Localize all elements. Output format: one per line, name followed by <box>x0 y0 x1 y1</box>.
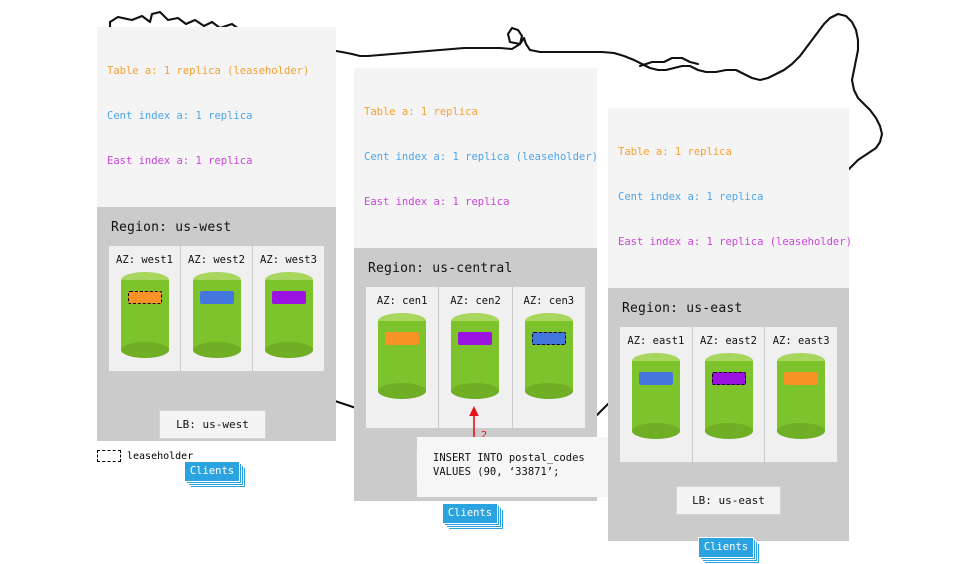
replica-bar-cen1-table-a <box>385 332 419 345</box>
node-cylinder-east1 <box>632 353 680 438</box>
diagram-canvas: Table a: 1 replica (leaseholder) Cent in… <box>0 0 960 540</box>
az-cell-west2: AZ: west2 <box>180 246 252 371</box>
node-cylinder-cen3 <box>525 313 573 398</box>
node-cylinder-east2 <box>705 353 753 438</box>
az-label-east3: AZ: east3 <box>765 335 837 347</box>
region-panel-us-east: Table a: 1 replica Cent index a: 1 repli… <box>608 108 849 541</box>
region-title-us-central: Region: us-central <box>354 248 597 287</box>
region-panel-us-west: Table a: 1 replica (leaseholder) Cent in… <box>97 27 336 441</box>
az-label-cen1: AZ: cen1 <box>366 295 438 307</box>
node-cylinder-west2 <box>193 272 241 357</box>
clients-label-us-east: Clients <box>698 537 754 558</box>
az-label-cen3: AZ: cen3 <box>513 295 585 307</box>
az-label-west2: AZ: west2 <box>181 254 252 266</box>
az-cell-east3: AZ: east3 <box>764 327 837 462</box>
az-label-east1: AZ: east1 <box>620 335 692 347</box>
clients-stack-us-east[interactable]: Clients <box>698 537 760 561</box>
az-cell-east1: AZ: east1 <box>620 327 692 462</box>
az-cell-cen1: AZ: cen1 <box>366 287 438 428</box>
header-line-cent-index: Cent index a: 1 replica <box>618 190 839 205</box>
header-line-east-index: East index a: 1 replica (leaseholder) <box>618 235 839 250</box>
sql-statement-box: INSERT INTO postal_codes VALUES (90, ‘33… <box>417 437 629 497</box>
node-cylinder-cen1 <box>378 313 426 398</box>
legend-label: leaseholder <box>127 451 193 462</box>
header-line-cent-index: Cent index a: 1 replica (leaseholder) <box>364 150 587 165</box>
header-line-cent-index: Cent index a: 1 replica <box>107 109 326 124</box>
az-label-east2: AZ: east2 <box>693 335 765 347</box>
az-label-west1: AZ: west1 <box>109 254 180 266</box>
legend-leaseholder: leaseholder <box>97 450 193 462</box>
header-line-table-a: Table a: 1 replica (leaseholder) <box>107 64 326 79</box>
clients-label-us-west: Clients <box>184 461 240 482</box>
az-label-cen2: AZ: cen2 <box>439 295 511 307</box>
replica-bar-cen3-cent-index <box>532 332 566 345</box>
replica-bar-west1-table-a <box>128 291 162 304</box>
replica-bar-west2-cent-index <box>200 291 234 304</box>
az-label-west3: AZ: west3 <box>253 254 324 266</box>
replica-bar-east1-cent-index <box>639 372 673 385</box>
load-balancer-us-west[interactable]: LB: us-west <box>159 410 266 439</box>
node-cylinder-west3 <box>265 272 313 357</box>
header-line-table-a: Table a: 1 replica <box>618 145 839 160</box>
region-header-us-east: Table a: 1 replica Cent index a: 1 repli… <box>608 108 849 288</box>
replica-bar-east2-east-index <box>712 372 746 385</box>
az-cell-west3: AZ: west3 <box>252 246 324 371</box>
node-cylinder-east3 <box>777 353 825 438</box>
node-cylinder-cen2 <box>451 313 499 398</box>
load-balancer-us-east[interactable]: LB: us-east <box>676 486 781 515</box>
region-header-us-west: Table a: 1 replica (leaseholder) Cent in… <box>97 27 336 207</box>
region-header-us-central: Table a: 1 replica Cent index a: 1 repli… <box>354 68 597 248</box>
clients-stack-us-central[interactable]: Clients <box>442 503 504 527</box>
region-panel-us-central: Table a: 1 replica Cent index a: 1 repli… <box>354 68 597 501</box>
replica-bar-west3-east-index <box>272 291 306 304</box>
header-line-east-index: East index a: 1 replica <box>107 154 326 169</box>
az-cell-cen2: AZ: cen2 <box>438 287 511 428</box>
replica-bar-east3-table-a <box>784 372 818 385</box>
clients-stack-us-west[interactable]: Clients <box>184 461 246 485</box>
az-cell-west1: AZ: west1 <box>109 246 180 371</box>
header-line-table-a: Table a: 1 replica <box>364 105 587 120</box>
leaseholder-swatch-icon <box>97 450 121 462</box>
region-title-us-east: Region: us-east <box>608 288 849 327</box>
az-cell-east2: AZ: east2 <box>692 327 765 462</box>
replica-bar-cen2-east-index <box>458 332 492 345</box>
header-line-east-index: East index a: 1 replica <box>364 195 587 210</box>
az-cell-cen3: AZ: cen3 <box>512 287 585 428</box>
clients-label-us-central: Clients <box>442 503 498 524</box>
node-cylinder-west1 <box>121 272 169 357</box>
region-title-us-west: Region: us-west <box>97 207 336 246</box>
